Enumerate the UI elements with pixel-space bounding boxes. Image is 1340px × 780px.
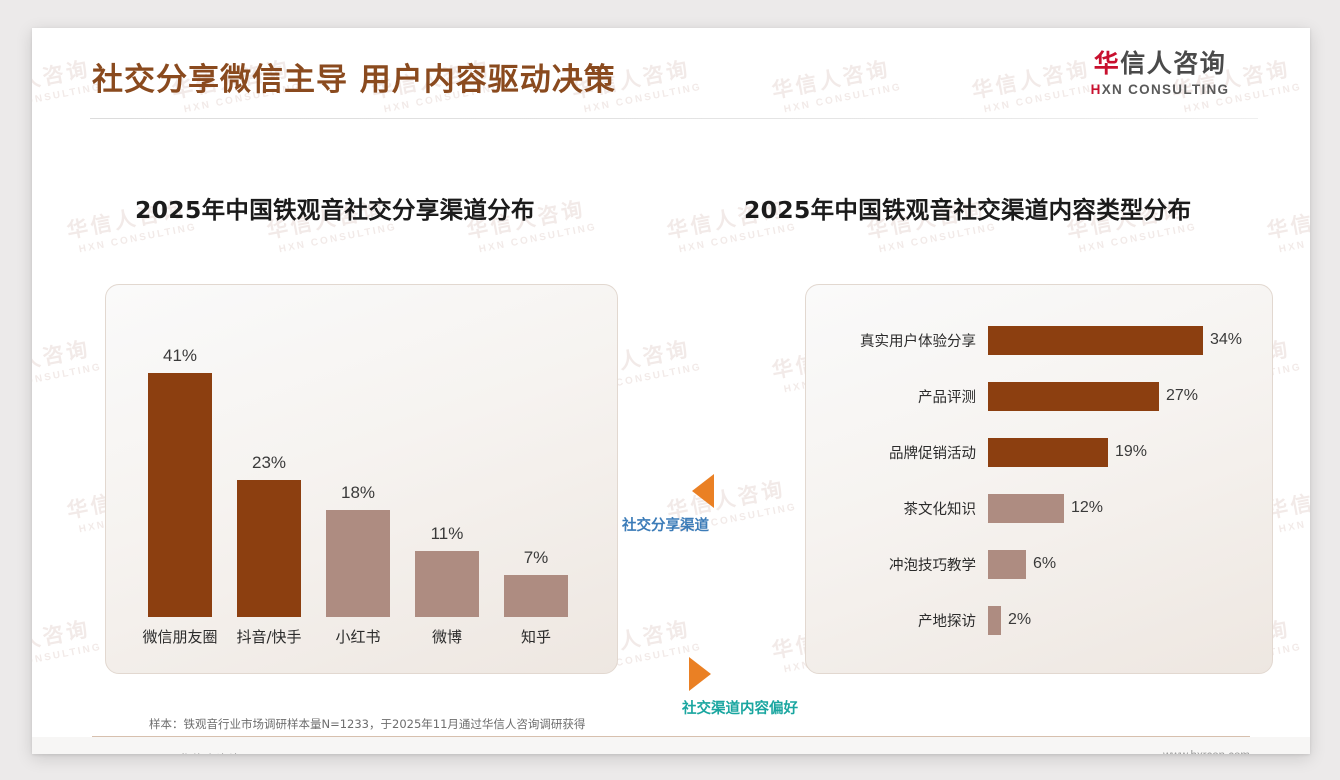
logo-chinese: 华信人咨询 (1070, 50, 1250, 79)
slide-footer: ©2026.1 HXR华信人咨询 www.hxrcon.com (32, 737, 1310, 754)
triangle-left-icon (692, 474, 714, 508)
bar-rect[interactable]: 18% (326, 510, 390, 617)
footer-divider (92, 736, 1250, 737)
bar-rect[interactable]: 11% (415, 551, 479, 617)
bar-category-label: 品牌促销活动 (806, 442, 988, 463)
brand-logo: 华信人咨询 HXN CONSULTING (1070, 50, 1250, 97)
slide-body: 2025年中国铁观音社交分享渠道分布 2025年中国铁观音社交渠道内容类型分布 … (32, 119, 1310, 694)
bar-value-label: 23% (252, 453, 286, 473)
bar-row: 真实用户体验分享34% (806, 325, 1273, 355)
bar-row: 冲泡技巧教学6% (806, 549, 1273, 579)
bar-rect[interactable] (988, 494, 1064, 523)
left-chart-title: 2025年中国铁观音社交分享渠道分布 (135, 191, 535, 225)
bar-value-label: 27% (1166, 387, 1198, 405)
copyright-text: ©2026.1 HXR华信人咨询 (92, 749, 241, 754)
bar-rect[interactable] (988, 550, 1026, 579)
right-chart-card: 真实用户体验分享34%产品评测27%品牌促销活动19%茶文化知识12%冲泡技巧教… (805, 284, 1273, 674)
bar-value-label: 7% (524, 548, 549, 568)
logo-cn-red: 华 (1094, 49, 1121, 78)
website-link[interactable]: www.hxrcon.com (1163, 750, 1250, 754)
bar-row: 茶文化知识12% (806, 493, 1273, 523)
horizontal-bar-chart: 真实用户体验分享34%产品评测27%品牌促销活动19%茶文化知识12%冲泡技巧教… (806, 285, 1273, 674)
bar-category-label: 冲泡技巧教学 (806, 554, 988, 575)
bar-rect[interactable] (988, 382, 1159, 411)
annotation-social-channel: 社交分享渠道 (622, 474, 714, 535)
annotation-content-preference: 社交渠道内容偏好 (687, 657, 798, 718)
bar-category-label: 真实用户体验分享 (806, 330, 988, 351)
logo-english: HXN CONSULTING (1070, 82, 1250, 97)
bar-value-label: 2% (1008, 611, 1031, 629)
bar-rect[interactable] (988, 438, 1108, 467)
bar-value-label: 34% (1210, 331, 1242, 349)
bar-value-label: 19% (1115, 443, 1147, 461)
logo-en-rest: XN CONSULTING (1102, 82, 1230, 97)
bar-category-label: 产品评测 (806, 386, 988, 407)
bar-rect[interactable] (988, 326, 1203, 355)
bar-value-label: 11% (431, 524, 464, 544)
bar-rect[interactable]: 41% (148, 373, 212, 617)
vertical-bar-chart: 41%微信朋友圈23%抖音/快手18%小红书11%微博7%知乎 (106, 285, 618, 674)
bar-column: 23%抖音/快手 (237, 480, 301, 617)
bar-value-label: 6% (1033, 555, 1056, 573)
bar-row: 产品评测27% (806, 381, 1273, 411)
source-footnote: 样本：铁观音行业市场调研样本量N=1233，于2025年11月通过华信人咨询调研… (149, 716, 585, 732)
bar-value-label: 41% (163, 346, 197, 366)
bar-column: 7%知乎 (504, 575, 568, 617)
bar-category-label: 抖音/快手 (236, 626, 301, 647)
page-title: 社交分享微信主导 用户内容驱动决策 (92, 54, 616, 99)
bar-category-label: 微博 (432, 626, 462, 647)
bar-value-label: 18% (341, 483, 375, 503)
logo-cn-rest: 信人咨询 (1120, 49, 1226, 78)
right-chart-title: 2025年中国铁观音社交渠道内容类型分布 (744, 191, 1191, 225)
bar-column: 41%微信朋友圈 (148, 373, 212, 617)
left-chart-card: 41%微信朋友圈23%抖音/快手18%小红书11%微博7%知乎 (105, 284, 618, 674)
bar-rect[interactable]: 23% (237, 480, 301, 617)
bar-row: 产地探访2% (806, 605, 1273, 635)
bar-category-label: 茶文化知识 (806, 498, 988, 519)
bar-rect[interactable]: 7% (504, 575, 568, 617)
bar-column: 18%小红书 (326, 510, 390, 617)
bar-category-label: 微信朋友圈 (142, 626, 217, 647)
bar-rect[interactable] (988, 606, 1001, 635)
bar-row: 品牌促销活动19% (806, 437, 1273, 467)
logo-en-red: H (1091, 82, 1102, 97)
bar-column: 11%微博 (415, 551, 479, 617)
bar-category-label: 知乎 (521, 626, 551, 647)
header-divider (90, 118, 1258, 119)
bar-value-label: 12% (1071, 499, 1103, 517)
slide-canvas: 华信人咨询HXN CONSULTING华信人咨询HXN CONSULTING华信… (32, 28, 1310, 754)
bar-category-label: 小红书 (335, 626, 380, 647)
bar-category-label: 产地探访 (806, 610, 988, 631)
slide-header: 社交分享微信主导 用户内容驱动决策 华信人咨询 HXN CONSULTING (32, 28, 1310, 118)
annotation-social-channel-label: 社交分享渠道 (622, 514, 714, 535)
annotation-content-preference-label: 社交渠道内容偏好 (682, 697, 798, 718)
triangle-right-icon (689, 657, 711, 691)
